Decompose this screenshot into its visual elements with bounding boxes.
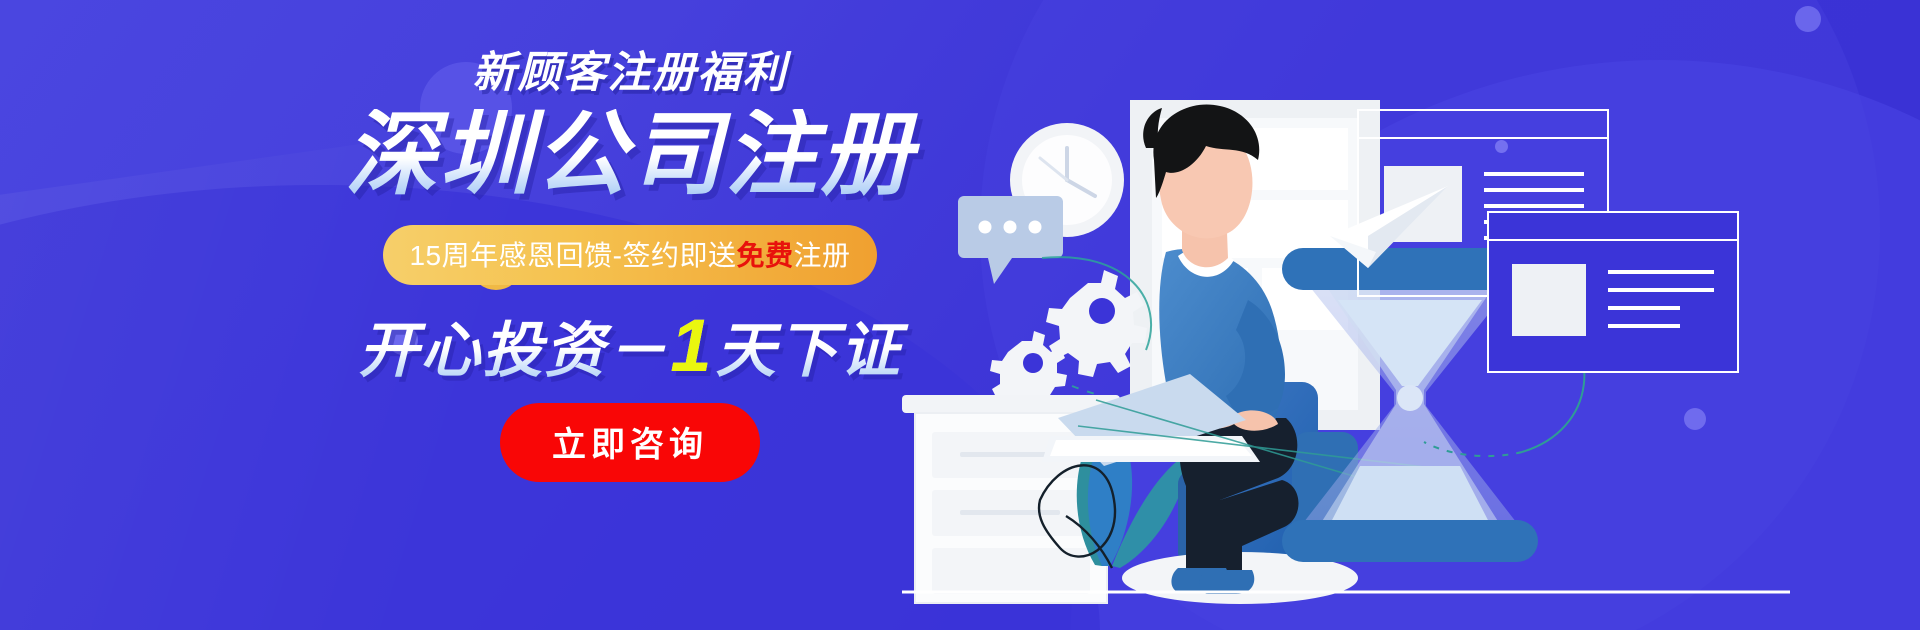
- tagline-after: 天下证: [716, 317, 902, 384]
- gears-icon: [990, 270, 1147, 413]
- tagline-number: 1: [668, 304, 715, 387]
- promo-banner: 新顾客注册福利 深圳公司注册 15周年感恩回馈-签约即送免费注册 开心投资－1天…: [0, 0, 1920, 630]
- chat-bubble-icon: [958, 196, 1063, 284]
- hero-illustration: [890, 0, 1920, 630]
- promo-prefix: 15周年感恩回馈-签约即送: [409, 240, 736, 271]
- eyebrow-text: 新顾客注册福利: [330, 52, 930, 95]
- banner-copy: 新顾客注册福利 深圳公司注册 15周年感恩回馈-签约即送免费注册 开心投资－1天…: [330, 52, 930, 482]
- consult-now-button[interactable]: 立即咨询: [500, 403, 760, 482]
- tagline-before: 开心投资－: [358, 317, 668, 384]
- promo-suffix: 注册: [793, 240, 850, 271]
- promo-highlight: 免费: [736, 240, 793, 271]
- page-title: 深圳公司注册: [330, 109, 930, 203]
- document-card-secondary-icon: [1488, 212, 1738, 372]
- promo-pill: 15周年感恩回馈-签约即送免费注册: [383, 225, 876, 285]
- tagline: 开心投资－1天下证: [330, 307, 930, 385]
